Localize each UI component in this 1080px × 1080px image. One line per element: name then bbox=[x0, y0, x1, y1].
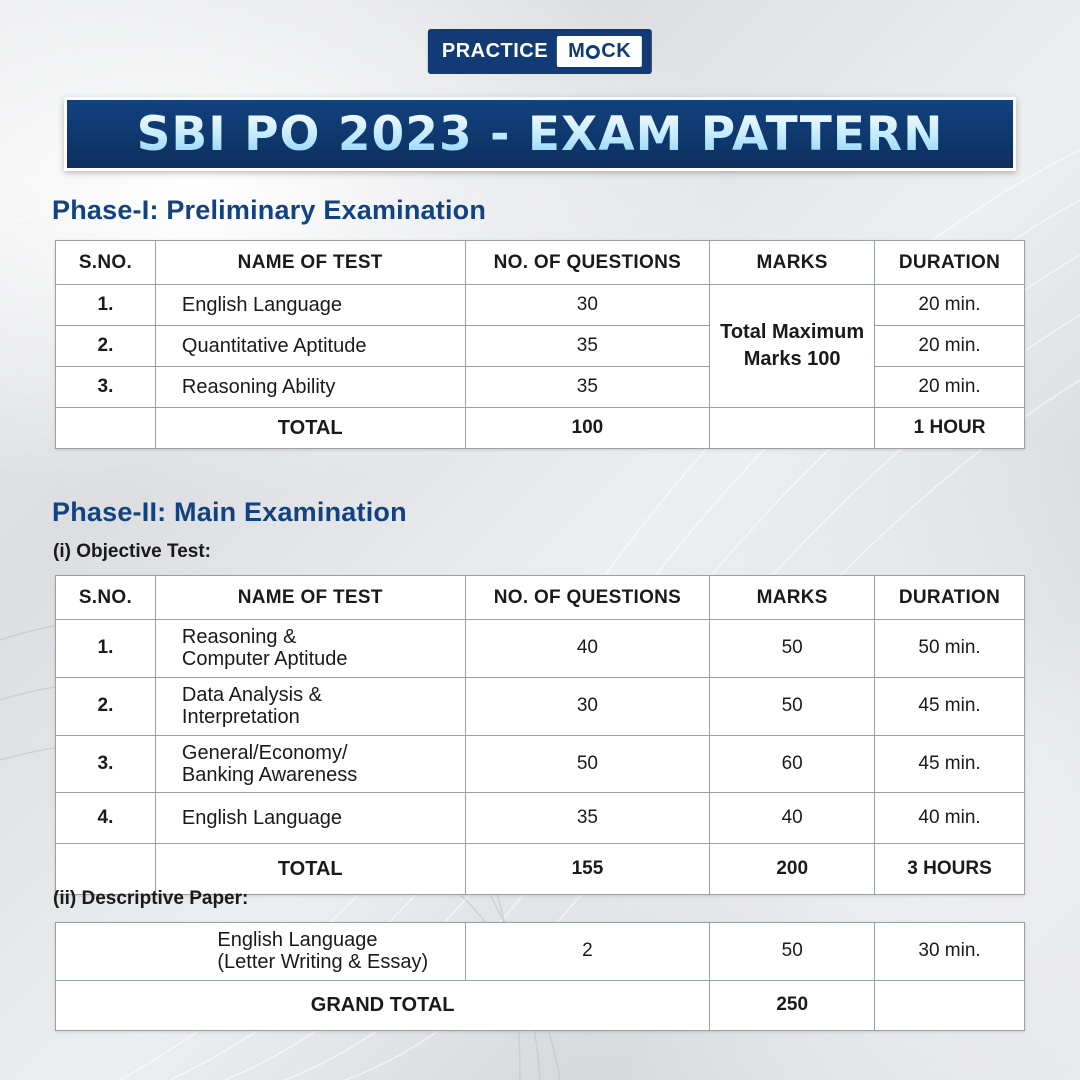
phase1-row2-questions: 35 bbox=[465, 367, 710, 408]
phase2-row1-sno: 2. bbox=[56, 677, 156, 735]
phase2-col-questions: NO. OF QUESTIONS bbox=[465, 576, 710, 620]
table-row: 3. General/Economy/ Banking Awareness 50… bbox=[56, 735, 1025, 793]
phase2-row2-sno: 3. bbox=[56, 735, 156, 793]
phase1-row0-duration: 20 min. bbox=[875, 285, 1025, 326]
phase1-total-sno bbox=[56, 408, 156, 449]
phase2-descriptive-table: English Language (Letter Writing & Essay… bbox=[55, 922, 1025, 1031]
phase1-total-label: TOTAL bbox=[155, 408, 465, 449]
phase2-total-marks: 200 bbox=[710, 844, 875, 895]
phase2-row1-name-line1: Data Analysis & bbox=[182, 684, 461, 706]
phase2-row1-duration: 45 min. bbox=[875, 677, 1025, 735]
phase1-row1-duration: 20 min. bbox=[875, 326, 1025, 367]
phase2-row3-questions: 35 bbox=[465, 793, 710, 844]
descriptive-questions: 2 bbox=[465, 923, 710, 981]
logo-mock-text: M CK bbox=[557, 36, 642, 67]
phase2-objective-label: (i) Objective Test: bbox=[53, 541, 211, 563]
phase2-col-marks: MARKS bbox=[710, 576, 875, 620]
phase2-row0-questions: 40 bbox=[465, 620, 710, 678]
phase1-row1-questions: 35 bbox=[465, 326, 710, 367]
phase1-table: S.NO. NAME OF TEST NO. OF QUESTIONS MARK… bbox=[55, 240, 1025, 449]
phase1-col-questions: NO. OF QUESTIONS bbox=[465, 241, 710, 285]
table-row: 1. English Language 30 Total Maximum Mar… bbox=[56, 285, 1025, 326]
phase2-row2-marks: 60 bbox=[710, 735, 875, 793]
phase2-total-duration: 3 HOURS bbox=[875, 844, 1025, 895]
table-row: 2. Data Analysis & Interpretation 30 50 … bbox=[56, 677, 1025, 735]
phase2-col-sno: S.NO. bbox=[56, 576, 156, 620]
phase2-row2-name-line2: Banking Awareness bbox=[182, 764, 461, 786]
phase2-row3-duration: 40 min. bbox=[875, 793, 1025, 844]
table-row: 2. Quantitative Aptitude 35 20 min. bbox=[56, 326, 1025, 367]
grand-total-duration-blank bbox=[875, 980, 1025, 1030]
phase2-row1-marks: 50 bbox=[710, 677, 875, 735]
title-banner: SBI PO 2023 - EXAM PATTERN bbox=[64, 97, 1016, 171]
phase1-total-marks-blank bbox=[710, 408, 875, 449]
descriptive-sno-blank bbox=[56, 923, 156, 981]
page-title: SBI PO 2023 - EXAM PATTERN bbox=[137, 107, 944, 162]
phase1-row2-sno: 3. bbox=[56, 367, 156, 408]
phase2-row1-name: Data Analysis & Interpretation bbox=[155, 677, 465, 735]
descriptive-duration: 30 min. bbox=[875, 923, 1025, 981]
grand-total-row: GRAND TOTAL 250 bbox=[56, 980, 1025, 1030]
phase1-total-row: TOTAL 100 1 HOUR bbox=[56, 408, 1025, 449]
phase2-row2-duration: 45 min. bbox=[875, 735, 1025, 793]
phase1-heading: Phase-I: Preliminary Examination bbox=[52, 195, 486, 226]
phase1-col-duration: DURATION bbox=[875, 241, 1025, 285]
phase2-row0-name-line1: Reasoning & bbox=[182, 626, 461, 648]
descriptive-marks: 50 bbox=[710, 923, 875, 981]
table-row: 4. English Language 35 40 40 min. bbox=[56, 793, 1025, 844]
phase1-row0-questions: 30 bbox=[465, 285, 710, 326]
phase1-col-marks: MARKS bbox=[710, 241, 875, 285]
grand-total-marks: 250 bbox=[710, 980, 875, 1030]
phase2-row0-marks: 50 bbox=[710, 620, 875, 678]
logo-practice-text: PRACTICE bbox=[438, 40, 557, 63]
phase2-row0-sno: 1. bbox=[56, 620, 156, 678]
phase1-header-row: S.NO. NAME OF TEST NO. OF QUESTIONS MARK… bbox=[56, 241, 1025, 285]
phase1-row1-name: Quantitative Aptitude bbox=[155, 326, 465, 367]
descriptive-name-line1: English Language bbox=[217, 929, 460, 951]
phase2-row0-duration: 50 min. bbox=[875, 620, 1025, 678]
phase2-heading: Phase-II: Main Examination bbox=[52, 497, 407, 528]
phase1-row0-sno: 1. bbox=[56, 285, 156, 326]
phase2-row0-name-line2: Computer Aptitude bbox=[182, 648, 461, 670]
phase1-col-sno: S.NO. bbox=[56, 241, 156, 285]
phase2-row3-sno: 4. bbox=[56, 793, 156, 844]
poster-page: PRACTICE M CK SBI PO 2023 - EXAM PATTERN… bbox=[0, 0, 1080, 1080]
table-row: English Language (Letter Writing & Essay… bbox=[56, 923, 1025, 981]
phase1-row2-duration: 20 min. bbox=[875, 367, 1025, 408]
descriptive-name: English Language (Letter Writing & Essay… bbox=[155, 923, 465, 981]
grand-total-label: GRAND TOTAL bbox=[56, 980, 710, 1030]
phase2-row3-marks: 40 bbox=[710, 793, 875, 844]
logo-ring-icon bbox=[586, 45, 600, 59]
logo-mock-ck: CK bbox=[601, 40, 631, 63]
phase2-col-duration: DURATION bbox=[875, 576, 1025, 620]
phase2-row3-name: English Language bbox=[155, 793, 465, 844]
phase2-row2-questions: 50 bbox=[465, 735, 710, 793]
phase1-col-name: NAME OF TEST bbox=[155, 241, 465, 285]
phase2-header-row: S.NO. NAME OF TEST NO. OF QUESTIONS MARK… bbox=[56, 576, 1025, 620]
table-row: 1. Reasoning & Computer Aptitude 40 50 5… bbox=[56, 620, 1025, 678]
phase2-row1-name-line2: Interpretation bbox=[182, 706, 461, 728]
phase1-total-questions: 100 bbox=[465, 408, 710, 449]
phase2-descriptive-label: (ii) Descriptive Paper: bbox=[53, 888, 248, 910]
phase2-row1-questions: 30 bbox=[465, 677, 710, 735]
phase2-objective-table: S.NO. NAME OF TEST NO. OF QUESTIONS MARK… bbox=[55, 575, 1025, 895]
phase1-row1-sno: 2. bbox=[56, 326, 156, 367]
phase2-row0-name: Reasoning & Computer Aptitude bbox=[155, 620, 465, 678]
phase1-row2-name: Reasoning Ability bbox=[155, 367, 465, 408]
brand-logo: PRACTICE M CK bbox=[428, 29, 652, 74]
phase2-row2-name: General/Economy/ Banking Awareness bbox=[155, 735, 465, 793]
logo-mock-m: M bbox=[568, 40, 585, 63]
phase1-row0-name: English Language bbox=[155, 285, 465, 326]
table-row: 3. Reasoning Ability 35 20 min. bbox=[56, 367, 1025, 408]
phase2-row2-name-line1: General/Economy/ bbox=[182, 742, 461, 764]
phase2-total-questions: 155 bbox=[465, 844, 710, 895]
phase1-marks-merged: Total Maximum Marks 100 bbox=[710, 285, 875, 408]
phase1-total-duration: 1 HOUR bbox=[875, 408, 1025, 449]
phase2-col-name: NAME OF TEST bbox=[155, 576, 465, 620]
descriptive-name-line2: (Letter Writing & Essay) bbox=[217, 951, 460, 973]
